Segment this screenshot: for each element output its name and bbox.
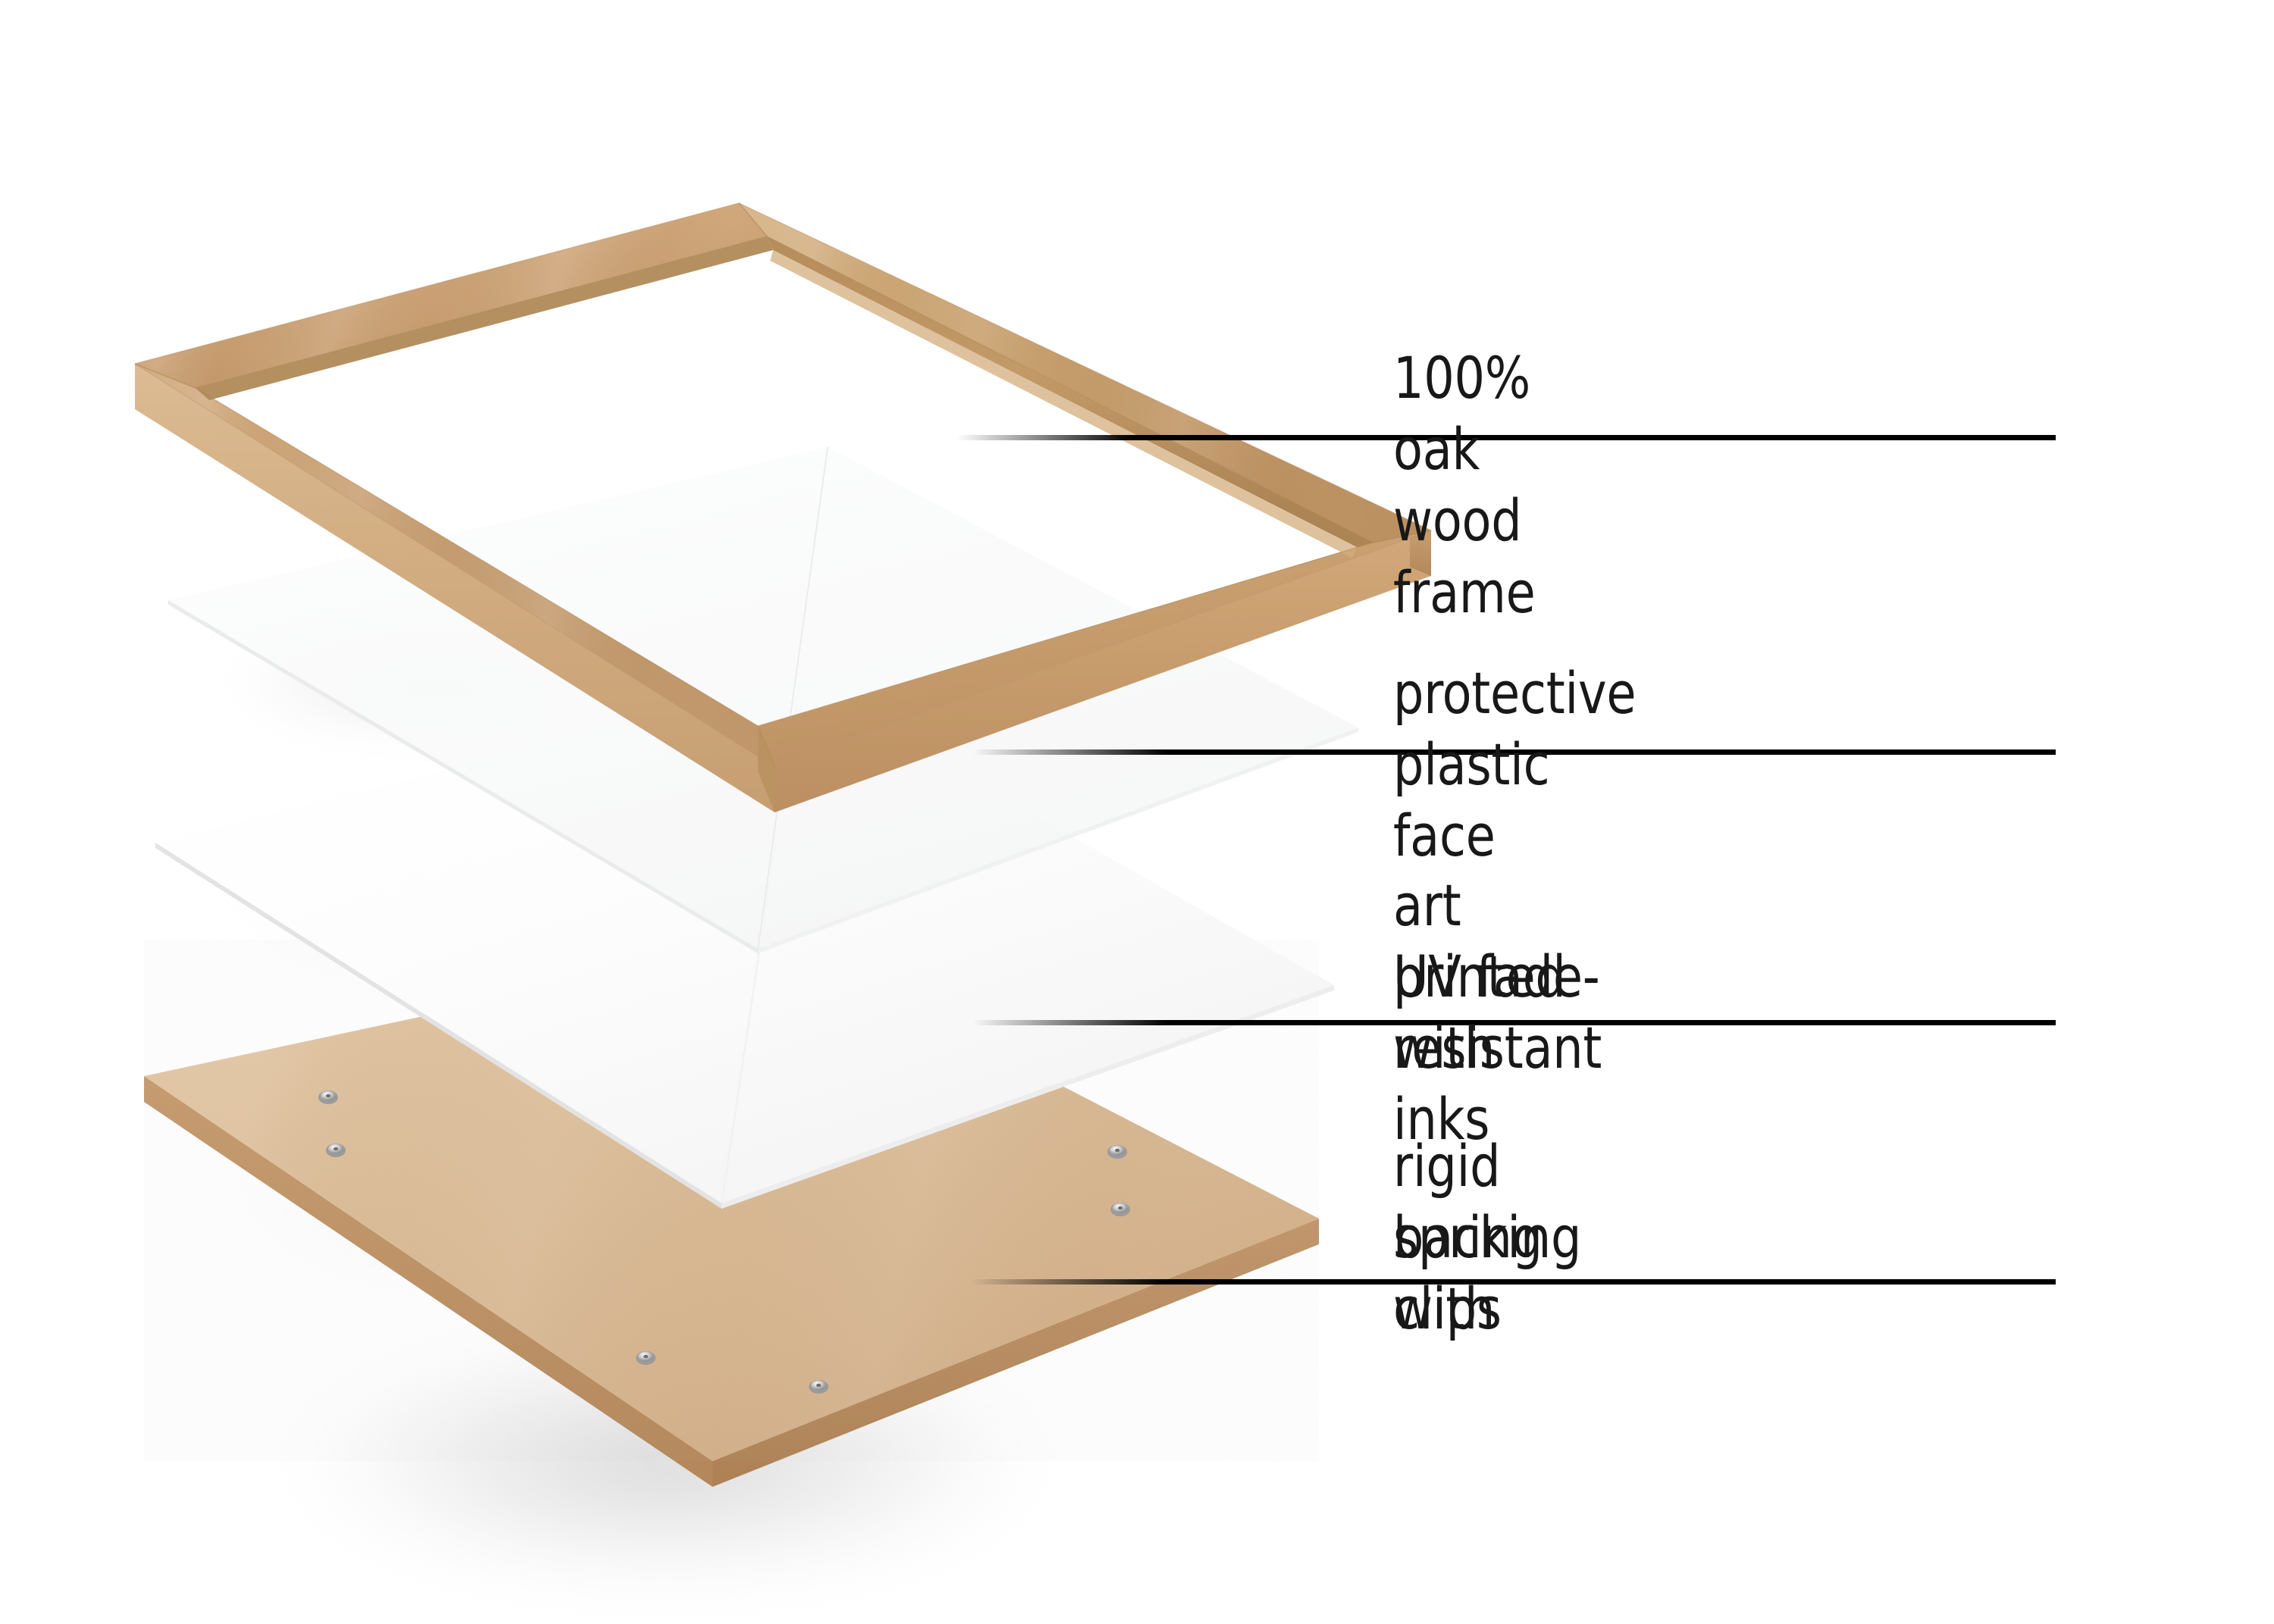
spring-clip bbox=[318, 1090, 338, 1104]
spring-clip bbox=[636, 1351, 656, 1365]
product-illustration bbox=[0, 0, 2274, 1624]
spring-clip bbox=[1107, 1145, 1127, 1159]
frame-inner-wall-back-left bbox=[196, 236, 773, 400]
exploded-product-diagram: 100% oak wood frame protective plastic f… bbox=[0, 0, 2274, 1624]
spring-clip bbox=[1110, 1203, 1130, 1216]
spring-clip bbox=[326, 1144, 346, 1157]
frame-grain-back-left bbox=[135, 203, 767, 388]
callout-label-rigid-backing-line2: spring clips bbox=[1393, 1202, 1543, 1344]
spring-clip bbox=[809, 1380, 828, 1394]
callout-label-oak-frame: 100% oak wood frame bbox=[1393, 343, 1536, 628]
callout-label-plastic-face: protective plastic face bbox=[1393, 658, 1636, 872]
callout-label-art-print-line2: UV fade-resistant inks bbox=[1393, 941, 1602, 1156]
